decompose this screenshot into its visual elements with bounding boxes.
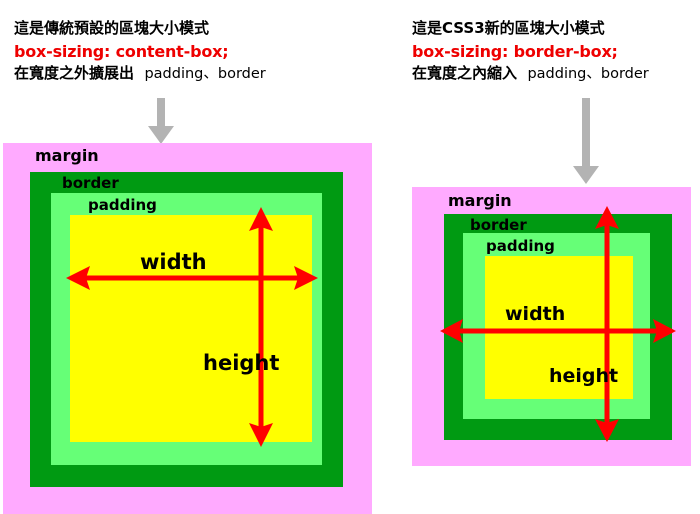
left-height-label: height [203,353,279,374]
left-caption-line-3: 在寬度之外擴展出 padding、border [14,63,266,85]
grey-down-arrow-icon-right [571,98,601,186]
left-caption-line-3-bold: 在寬度之外擴展出 [14,64,134,82]
diagram-canvas: 這是傳統預設的區塊大小模式 box-sizing: content-box; 在… [0,0,700,514]
left-height-arrow-icon [242,207,280,447]
right-caption-line-1: 這是CSS3新的區塊大小模式 [412,18,649,40]
right-border-label: border [470,218,527,233]
right-height-arrow-icon [589,206,625,442]
right-padding-label: padding [486,239,555,254]
left-caption-line-3-thin: padding、border [144,66,265,82]
right-caption-block: 這是CSS3新的區塊大小模式 box-sizing: border-box; 在… [412,18,649,85]
right-caption-line-3-bold: 在寬度之內縮入 [412,64,517,82]
left-width-label: width [140,252,207,273]
left-caption-line-1: 這是傳統預設的區塊大小模式 [14,18,266,40]
left-caption-code: box-sizing: content-box; [14,40,266,63]
right-caption-line-3-thin: padding、border [527,66,648,82]
grey-down-arrow-icon-left [146,98,176,146]
left-margin-label: margin [35,148,99,164]
right-margin-label: margin [448,193,512,209]
left-padding-label: padding [88,198,157,213]
right-width-label: width [505,305,565,324]
left-caption-block: 這是傳統預設的區塊大小模式 box-sizing: content-box; 在… [14,18,266,85]
left-border-label: border [62,176,119,191]
right-caption-line-3: 在寬度之內縮入 padding、border [412,63,649,85]
right-height-label: height [549,367,618,386]
right-caption-code: box-sizing: border-box; [412,40,649,63]
